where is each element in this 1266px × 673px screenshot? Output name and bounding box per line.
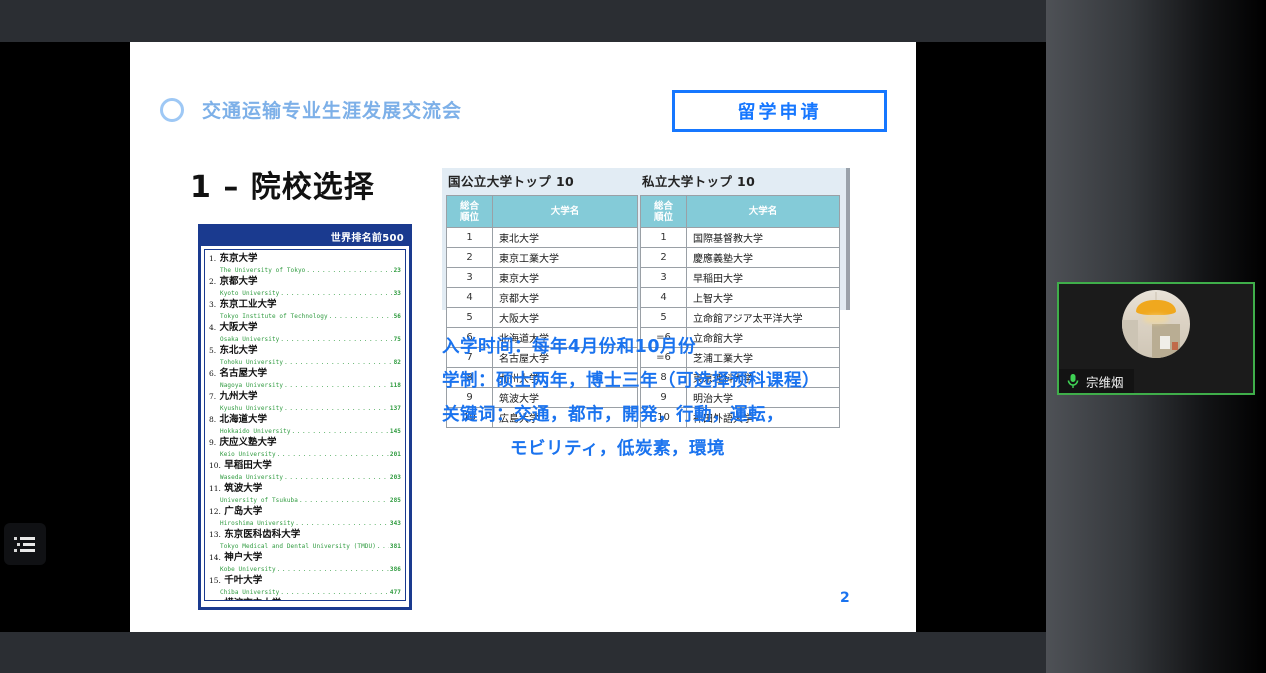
ranking-card-header-label: 世界排名前500	[331, 229, 404, 244]
ranking-row-index: 3.	[209, 300, 216, 309]
cell-rank: 5	[641, 308, 687, 328]
cell-university-name: 東北大学	[493, 228, 638, 248]
meeting-bottom-bar	[0, 632, 1046, 673]
column-header-rank-line2: 順位	[641, 212, 686, 223]
ranking-row-score: 33	[394, 288, 401, 299]
ranking-row-score: 203	[390, 472, 401, 483]
table-header-row: 総合順位大学名	[447, 196, 638, 228]
ranking-row-name-cn: 东京大学	[219, 253, 257, 264]
table-header-row: 総合順位大学名	[641, 196, 840, 228]
ranking-row-name-cn: 神户大学	[224, 552, 262, 563]
ranking-row-name-cn: 横滨市立大学	[224, 598, 281, 601]
ranking-row-cn: 13. 东京医科齿科大学	[209, 529, 401, 541]
ranking-row-cn: 6. 名古屋大学	[209, 368, 401, 380]
cell-rank: 2	[447, 248, 493, 268]
ranking-row: 13. 东京医科齿科大学Tokyo Medical and Dental Uni…	[209, 529, 401, 552]
ranking-row-score: 201	[390, 449, 401, 460]
leader-dots: ........................................…	[295, 518, 389, 529]
leader-dots: ........................................…	[277, 564, 389, 575]
ranking-row: 10. 早稻田大学Waseda University..............…	[209, 460, 401, 483]
ranking-row-score: 118	[390, 380, 401, 391]
ranking-card-header: 世界排名前500	[201, 227, 409, 246]
slide-notes: 入学时间：每年4月份和10月份学制：硕士两年，博士三年（可选择预科课程）关键词：…	[442, 330, 882, 466]
leader-dots: ........................................…	[284, 403, 389, 414]
cell-university-name: 東京工業大学	[493, 248, 638, 268]
ranking-row-name-en: Hiroshima University	[220, 518, 294, 529]
section-title: 1 – 院校选择	[190, 162, 375, 206]
ranking-row: 6. 名古屋大学Nagoya University...............…	[209, 368, 401, 391]
note-line: 学制：硕士两年，博士三年（可选择预科课程）	[442, 364, 882, 398]
ranking-row-en: Osaka University........................…	[209, 334, 401, 345]
leader-dots: ........................................…	[277, 449, 389, 460]
ranking-row-cn: 3. 东京工业大学	[209, 299, 401, 311]
ranking-row-en: Tohoku University.......................…	[209, 357, 401, 368]
ranking-row-name-cn: 东北大学	[219, 345, 257, 356]
list-icon-button[interactable]	[4, 523, 46, 565]
leader-dots: ........................................…	[377, 541, 389, 552]
ranking-row-cn: 5. 东北大学	[209, 345, 401, 357]
cell-university-name: 大阪大学	[493, 308, 638, 328]
ranking-row-name-cn: 广岛大学	[224, 506, 262, 517]
table-row: 1東北大学	[447, 228, 638, 248]
topic-badge: 留学申请	[672, 90, 887, 132]
ranking-row-index: 12.	[209, 507, 221, 516]
ranking-row-name-cn: 北海道大学	[219, 414, 267, 425]
leader-dots: ........................................…	[306, 265, 392, 276]
ranking-row: 14. 神户大学Kobe University.................…	[209, 552, 401, 575]
ranking-row-score: 82	[394, 357, 401, 368]
table-row: 5立命館アジア太平洋大学	[641, 308, 840, 328]
ranking-row-cn: 16. 横滨市立大学	[209, 598, 401, 601]
cell-rank: 1	[641, 228, 687, 248]
ranking-row-en: Kobe University.........................…	[209, 564, 401, 575]
ranking-row-score: 137	[390, 403, 401, 414]
table-title: 私立大学トップ 10	[640, 168, 840, 195]
ranking-row-score: 145	[390, 426, 401, 437]
ranking-row-cn: 11. 筑波大学	[209, 483, 401, 495]
ranking-row-index: 9.	[209, 438, 216, 447]
note-line: モビリティ，低炭素，環境	[442, 432, 882, 466]
ranking-row-name-cn: 大阪大学	[219, 322, 257, 333]
ranking-row: 12. 广岛大学Hiroshima University............…	[209, 506, 401, 529]
ranking-row-name-en: Chiba University	[220, 587, 279, 598]
ranking-row: 4. 大阪大学Osaka University.................…	[209, 322, 401, 345]
table-row: 4京都大学	[447, 288, 638, 308]
ranking-row-index: 5.	[209, 346, 216, 355]
leader-dots: ........................................…	[280, 288, 392, 299]
ranking-row-en: Waseda University.......................…	[209, 472, 401, 483]
avatar-object	[1160, 336, 1170, 349]
avatar	[1122, 290, 1190, 358]
cell-rank: 3	[447, 268, 493, 288]
cell-university-name: 上智大学	[687, 288, 840, 308]
cell-university-name: 早稲田大学	[687, 268, 840, 288]
ranking-row-cn: 1. 东京大学	[209, 253, 401, 265]
ranking-row-name-cn: 早稻田大学	[224, 460, 272, 471]
ranking-row-cn: 8. 北海道大学	[209, 414, 401, 426]
participant-tile[interactable]: 宗维烟	[1057, 282, 1255, 395]
ranking-row-name-cn: 京都大学	[219, 276, 257, 287]
circle-outline-icon	[160, 98, 184, 122]
ranking-row-index: 16.	[209, 599, 221, 601]
ranking-row-index: 4.	[209, 323, 216, 332]
table-row: 1国際基督教大学	[641, 228, 840, 248]
leader-dots: ........................................…	[280, 334, 392, 345]
ranking-row-cn: 4. 大阪大学	[209, 322, 401, 334]
world-ranking-card: 世界排名前500 1. 东京大学The University of Tokyo.…	[198, 224, 412, 610]
cell-rank: 1	[447, 228, 493, 248]
ranking-row-index: 1.	[209, 254, 216, 263]
ranking-row-index: 10.	[209, 461, 221, 470]
note-line: 关键词：交通，都市，開発，行動，運転，	[442, 398, 882, 432]
ranking-row-index: 7.	[209, 392, 216, 401]
lamp-shade-icon	[1136, 300, 1176, 315]
ranking-row: 15. 千叶大学Chiba University................…	[209, 575, 401, 598]
tables-edge-shadow	[846, 168, 850, 310]
leader-dots: ........................................…	[292, 426, 389, 437]
ranking-row: 1. 东京大学The University of Tokyo..........…	[209, 253, 401, 276]
ranking-row-score: 23	[394, 265, 401, 276]
ranking-row-name-cn: 庆应义塾大学	[219, 437, 276, 448]
ranking-row-cn: 2. 京都大学	[209, 276, 401, 288]
leader-dots: ........................................…	[280, 587, 388, 598]
ranking-row-cn: 12. 广岛大学	[209, 506, 401, 518]
ranking-row: 16. 横滨市立大学Yokohama City University......…	[209, 598, 401, 601]
ranking-row: 7. 九州大学Kyushu University................…	[209, 391, 401, 414]
ranking-row-en: Kyushu University.......................…	[209, 403, 401, 414]
ranking-row-name-en: Kobe University	[220, 564, 276, 575]
ranking-row-index: 13.	[209, 530, 221, 539]
column-header-rank: 総合順位	[447, 196, 493, 228]
leader-dots: ........................................…	[284, 472, 389, 483]
topic-badge-label: 留学申请	[738, 98, 822, 124]
ranking-row-name-en: Osaka University	[220, 334, 279, 345]
ranking-row: 8. 北海道大学Hokkaido University.............…	[209, 414, 401, 437]
ranking-row-name-cn: 九州大学	[219, 391, 257, 402]
table-row: 2東京工業大学	[447, 248, 638, 268]
avatar-object-2	[1172, 342, 1178, 350]
list-icon	[14, 535, 36, 553]
ranking-row-score: 56	[394, 311, 401, 322]
participant-name-bar: 宗维烟	[1059, 369, 1134, 393]
ranking-row-name-cn: 千叶大学	[224, 575, 262, 586]
ranking-row-en: Kyoto University........................…	[209, 288, 401, 299]
participant-name: 宗维烟	[1086, 372, 1124, 391]
ranking-row-name-en: Kyushu University	[220, 403, 283, 414]
ranking-row-name-en: The University of Tokyo	[220, 265, 305, 276]
ranking-row-score: 477	[390, 587, 401, 598]
table-row: 2慶應義塾大学	[641, 248, 840, 268]
column-header-name: 大学名	[493, 196, 638, 228]
ranking-row-index: 11.	[209, 484, 221, 493]
ranking-row-score: 386	[390, 564, 401, 575]
ranking-row-name-cn: 东京医科齿科大学	[224, 529, 300, 540]
ranking-row: 9. 庆应义塾大学Keio University................…	[209, 437, 401, 460]
ranking-row-en: Nagoya University.......................…	[209, 380, 401, 391]
leader-dots: ........................................…	[329, 311, 393, 322]
slide-header: 交通运输专业生涯发展交流会	[160, 96, 462, 123]
ranking-row-cn: 14. 神户大学	[209, 552, 401, 564]
column-header-rank-line1: 総合	[641, 201, 686, 212]
meeting-top-bar	[0, 0, 1046, 42]
ranking-row-cn: 7. 九州大学	[209, 391, 401, 403]
ranking-row-score: 381	[390, 541, 401, 552]
ranking-row-en: Chiba University........................…	[209, 587, 401, 598]
microphone-icon[interactable]	[1067, 373, 1079, 389]
ranking-row-name-en: University of Tsukuba	[220, 495, 298, 506]
ranking-row-name-cn: 筑波大学	[224, 483, 262, 494]
cell-university-name: 慶應義塾大学	[687, 248, 840, 268]
ranking-row-name-en: Tokyo Institute of Technology	[220, 311, 328, 322]
ranking-row: 2. 京都大学Kyoto University.................…	[209, 276, 401, 299]
column-header-name: 大学名	[687, 196, 840, 228]
ranking-row-en: Tokyo Medical and Dental University (TMD…	[209, 541, 401, 552]
ranking-row-en: The University of Tokyo.................…	[209, 265, 401, 276]
ranking-row-en: University of Tsukuba...................…	[209, 495, 401, 506]
ranking-row-en: Hokkaido University.....................…	[209, 426, 401, 437]
ranking-row-index: 8.	[209, 415, 216, 424]
page-number: 2	[840, 590, 850, 606]
ranking-row: 11. 筑波大学University of Tsukuba...........…	[209, 483, 401, 506]
cell-university-name: 東京大学	[493, 268, 638, 288]
ranking-row-cn: 10. 早稻田大学	[209, 460, 401, 472]
ranking-row-name-en: Kyoto University	[220, 288, 279, 299]
ranking-row-score: 343	[390, 518, 401, 529]
table-title: 国公立大学トップ 10	[446, 168, 638, 195]
table-row: 3東京大学	[447, 268, 638, 288]
cell-rank: 4	[641, 288, 687, 308]
table-row: 3早稲田大学	[641, 268, 840, 288]
ranking-row-en: Hiroshima University....................…	[209, 518, 401, 529]
ranking-row: 5. 东北大学Tohoku University................…	[209, 345, 401, 368]
app-root: 交通运输专业生涯发展交流会 留学申请 1 – 院校选择 世界排名前500 1. …	[0, 0, 1266, 673]
lamp-glow	[1143, 314, 1169, 324]
ranking-list: 1. 东京大学The University of Tokyo..........…	[204, 249, 406, 601]
column-header-rank-line2: 順位	[447, 212, 492, 223]
leader-dots: ........................................…	[284, 380, 389, 391]
ranking-row-name-cn: 名古屋大学	[219, 368, 267, 379]
ranking-row-index: 2.	[209, 277, 216, 286]
avatar-wall	[1122, 320, 1138, 358]
ranking-row-en: Keio University.........................…	[209, 449, 401, 460]
presentation-slide: 交通运输专业生涯发展交流会 留学申请 1 – 院校选择 世界排名前500 1. …	[130, 42, 916, 632]
ranking-row-name-en: Nagoya University	[220, 380, 283, 391]
ranking-row-cn: 9. 庆应义塾大学	[209, 437, 401, 449]
cell-university-name: 国際基督教大学	[687, 228, 840, 248]
cell-university-name: 京都大学	[493, 288, 638, 308]
japan-university-tables: 国公立大学トップ 10総合順位大学名1東北大学2東京工業大学3東京大学4京都大学…	[442, 168, 848, 310]
column-header-rank: 総合順位	[641, 196, 687, 228]
ranking-row-score: 285	[390, 495, 401, 506]
ranking-row-name-en: Hokkaido University	[220, 426, 291, 437]
ranking-row-cn: 15. 千叶大学	[209, 575, 401, 587]
table-row: 5大阪大学	[447, 308, 638, 328]
ranking-row-name-en: Tohoku University	[220, 357, 283, 368]
cell-rank: 4	[447, 288, 493, 308]
ranking-row-index: 15.	[209, 576, 221, 585]
slide-header-title: 交通运输专业生涯发展交流会	[202, 96, 462, 123]
cell-rank: 3	[641, 268, 687, 288]
cell-university-name: 立命館アジア太平洋大学	[687, 308, 840, 328]
ranking-row-en: Tokyo Institute of Technology...........…	[209, 311, 401, 322]
ranking-row-index: 14.	[209, 553, 221, 562]
cell-rank: 2	[641, 248, 687, 268]
ranking-row-name-cn: 东京工业大学	[219, 299, 276, 310]
leader-dots: ........................................…	[299, 495, 389, 506]
ranking-row-name-en: Tokyo Medical and Dental University (TMD…	[220, 541, 376, 552]
leader-dots: ........................................…	[284, 357, 392, 368]
column-header-rank-line1: 総合	[447, 201, 492, 212]
ranking-row: 3. 东京工业大学Tokyo Institute of Technology..…	[209, 299, 401, 322]
cell-rank: 5	[447, 308, 493, 328]
ranking-row-name-en: Keio University	[220, 449, 276, 460]
ranking-row-score: 75	[394, 334, 401, 345]
ranking-row-name-en: Waseda University	[220, 472, 283, 483]
table-row: 4上智大学	[641, 288, 840, 308]
note-line: 入学时间：每年4月份和10月份	[442, 330, 882, 364]
ranking-row-index: 6.	[209, 369, 216, 378]
